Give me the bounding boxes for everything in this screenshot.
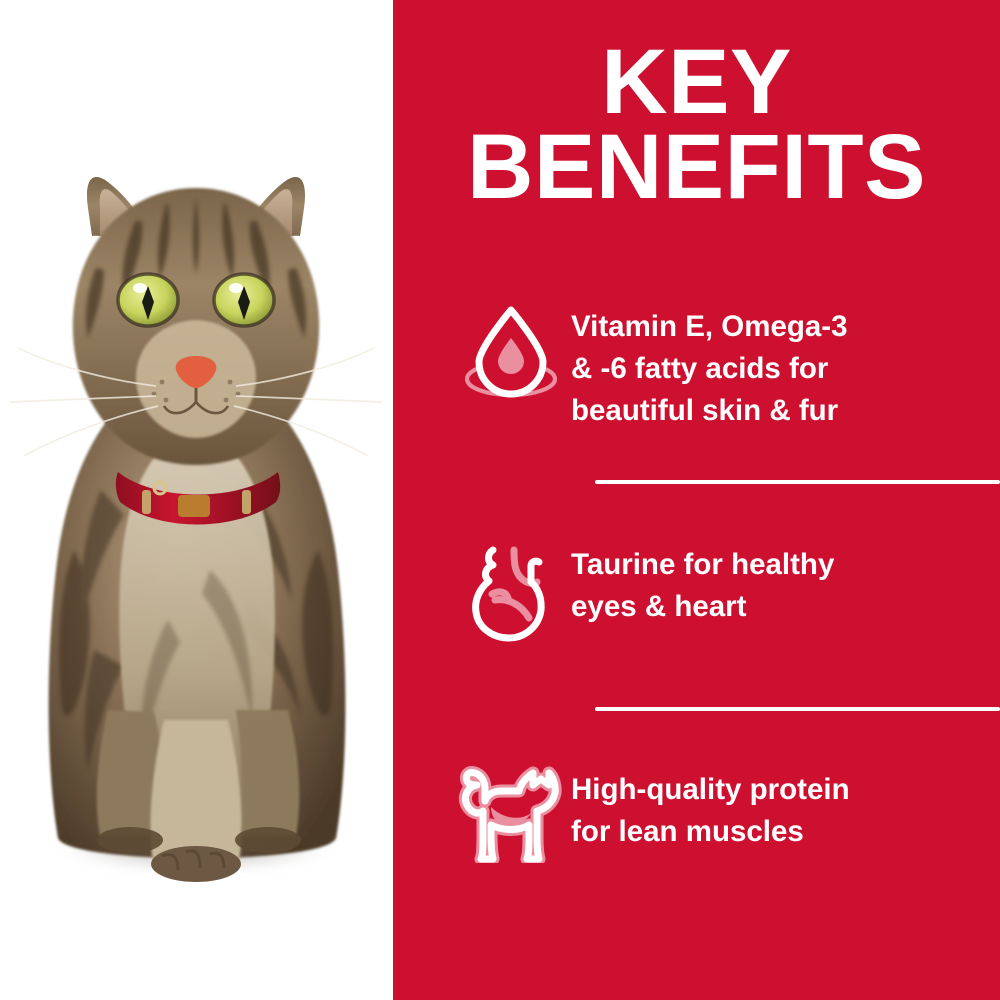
benefit-item-skin-fur: Vitamin E, Omega-3 & -6 fatty acids for … (393, 300, 1000, 432)
benefit-item-lean-muscles: High-quality protein for lean muscles (393, 763, 1000, 875)
page-title: KEY BENEFITS (393, 40, 1000, 209)
divider-2 (595, 707, 1000, 711)
cat-photo-panel (0, 0, 393, 1000)
cat-photo (0, 0, 393, 1000)
benefit-line: Taurine for healthy (571, 544, 986, 586)
benefit-text-skin-fur: Vitamin E, Omega-3 & -6 fatty acids for … (567, 300, 986, 432)
benefit-line: High-quality protein (571, 769, 986, 811)
benefits-panel: KEY BENEFITS Vitamin E, Omega-3 & -6 fat… (393, 0, 1000, 1000)
divider-1 (595, 480, 1000, 484)
title-line-benefits: BENEFITS (393, 125, 1000, 210)
benefit-text-lean-muscles: High-quality protein for lean muscles (567, 763, 986, 853)
title-line-key: KEY (393, 40, 1000, 125)
cat-illustration (0, 150, 393, 980)
benefit-line: for lean muscles (571, 811, 986, 853)
benefit-line: beautiful skin & fur (571, 390, 986, 432)
benefit-line: eyes & heart (571, 586, 986, 628)
benefit-line: Vitamin E, Omega-3 (571, 306, 986, 348)
anatomical-heart-icon (455, 538, 567, 650)
cat-silhouette-icon (455, 763, 567, 875)
benefit-line: & -6 fatty acids for (571, 348, 986, 390)
benefit-item-eyes-heart: Taurine for healthy eyes & heart (393, 538, 1000, 650)
water-droplet-icon (455, 300, 567, 412)
key-benefits-graphic: KEY BENEFITS Vitamin E, Omega-3 & -6 fat… (0, 0, 1000, 1000)
benefits-list: Vitamin E, Omega-3 & -6 fatty acids for … (393, 300, 1000, 875)
benefit-text-eyes-heart: Taurine for healthy eyes & heart (567, 538, 986, 628)
